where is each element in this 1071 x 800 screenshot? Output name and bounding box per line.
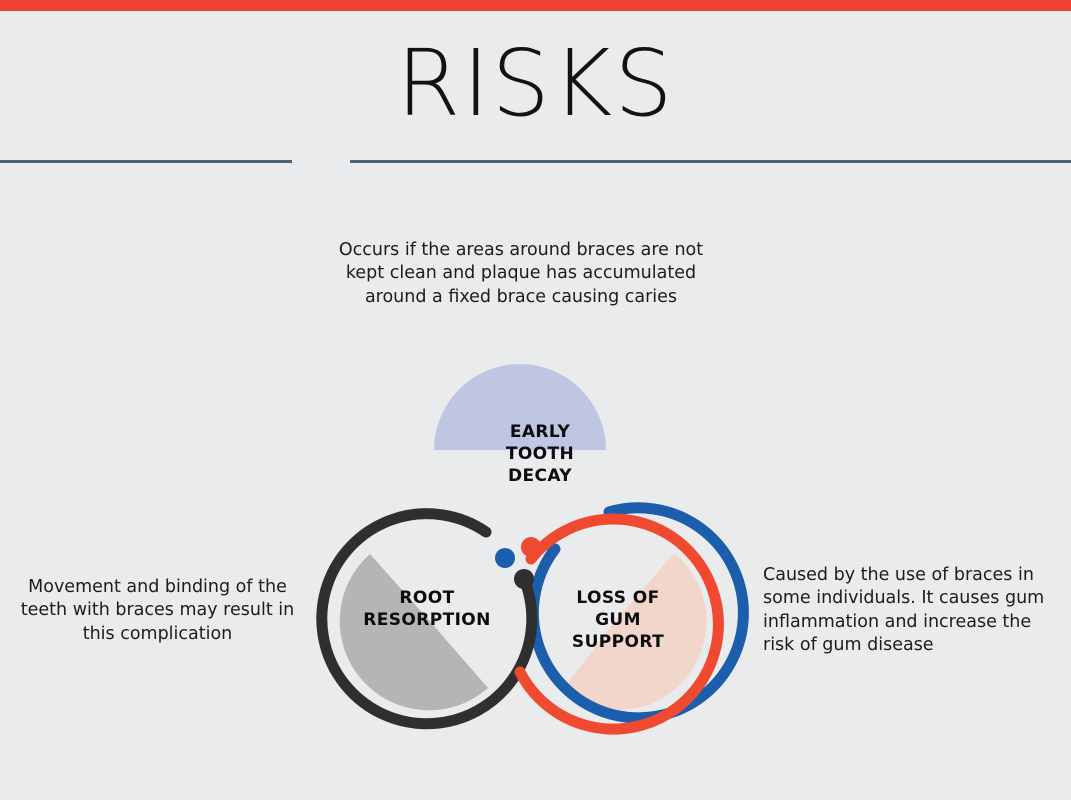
description-loss-of-gum-support: Caused by the use of braces in some indi…: [763, 564, 1053, 657]
top-accent-bar: [0, 0, 1071, 11]
loss-of-gum-support-endpoint-dot: [521, 537, 541, 557]
description-root-resorption: Movement and binding of the teeth with b…: [20, 576, 295, 646]
divider-rule-left: [0, 160, 292, 163]
early-tooth-decay-endpoint-dot: [495, 548, 515, 568]
early-tooth-decay-fill: [434, 364, 606, 450]
risks-diagram: EARLY TOOTH DECAY ROOT RESORPTION LOSS O…: [280, 320, 780, 760]
divider-rule-right: [350, 160, 1071, 163]
description-early-tooth-decay: Occurs if the areas around braces are no…: [325, 239, 717, 309]
loss-of-gum-support-fill: [562, 553, 706, 710]
root-resorption-endpoint-dot: [514, 569, 534, 589]
infographic-page: RISKS Occurs if the areas around braces …: [0, 0, 1071, 800]
page-title: RISKS: [0, 36, 1071, 133]
root-resorption-fill: [340, 554, 488, 710]
